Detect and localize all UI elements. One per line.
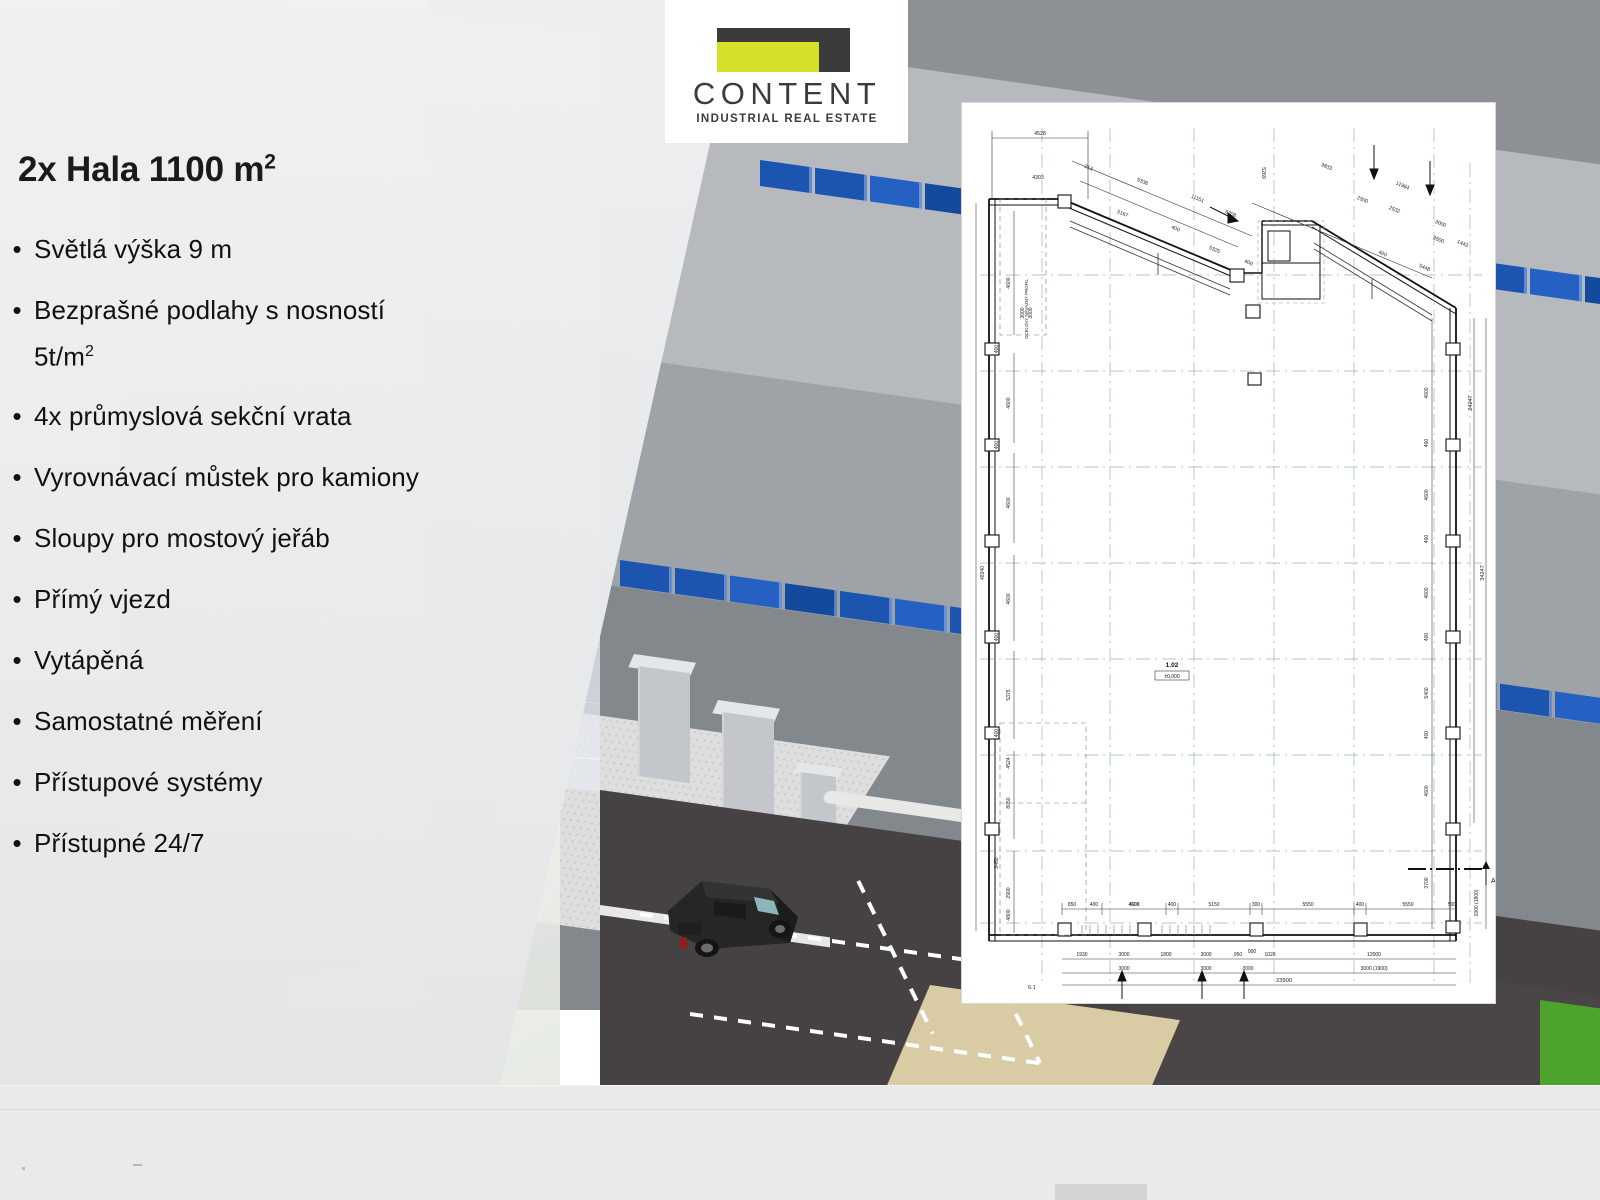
room-label: 1.02 xyxy=(1166,662,1179,669)
bullet-marker-icon: • xyxy=(0,293,34,327)
dimension-label: 400 xyxy=(994,729,1000,738)
room-level-label: ±0,000 xyxy=(1164,674,1179,680)
dimension-label: 5269 xyxy=(1260,167,1266,179)
floor-plan-svg: 4528 213 5336 11151 4303 5167 400 5325 4… xyxy=(962,103,1495,1003)
bullet-marker-icon: • xyxy=(0,399,34,433)
dimension-label: 500 xyxy=(1448,902,1457,908)
bullet-marker-icon: • xyxy=(0,232,34,266)
dimension-label: 5375 xyxy=(1006,689,1012,700)
dimension-label-inner-depth: 24247 xyxy=(1468,395,1474,411)
list-item-superscript: 2 xyxy=(85,343,94,360)
list-item-label: Vytápěná xyxy=(34,643,144,677)
list-item: • Samostatné měření xyxy=(0,704,540,738)
plan-note: OCELOVÝ NÁVAZNÝ PROFIL xyxy=(1024,279,1029,339)
dimension-label: 3000 xyxy=(1118,966,1129,972)
bottom-bar-tick xyxy=(133,1164,142,1166)
dimension-label: 4600 xyxy=(1006,277,1012,288)
dimension-label: 4303 xyxy=(1032,175,1044,181)
dimension-label: 5550 xyxy=(1402,902,1413,908)
dimension-label: 4600 xyxy=(1424,587,1430,598)
dimension-label: 4600 xyxy=(1128,902,1139,908)
dimension-label: 8050 xyxy=(1006,797,1012,808)
dimension-label: 1900 (1800) xyxy=(1474,889,1480,916)
dimension-label: 900 xyxy=(1248,949,1257,955)
list-item-label: Vyrovnávací můstek pro kamiony xyxy=(34,460,419,494)
logo-mark-accent xyxy=(717,42,819,72)
dimension-label: 3000 xyxy=(1118,952,1129,958)
logo-wordmark: CONTENT xyxy=(687,76,887,112)
dimension-label: 1800 xyxy=(1160,952,1171,958)
dimension-label: 3450 xyxy=(994,857,1000,868)
bottom-bar-tick xyxy=(22,1167,25,1170)
dimension-label: 4528 xyxy=(1034,131,1046,137)
bullet-marker-icon: • xyxy=(0,765,34,799)
dimension-label: 3700 xyxy=(1424,877,1430,888)
dimension-label: 1020 xyxy=(1264,952,1275,958)
dimension-label: 4600 xyxy=(1006,593,1012,604)
grass-area xyxy=(1540,1000,1600,1085)
list-item-label: Sloupy pro mostový jeřáb xyxy=(34,521,330,555)
feature-list: • Světlá výška 9 m • Bezprašné podlahy s… xyxy=(0,232,540,887)
bullet-marker-icon: • xyxy=(0,826,34,860)
dimension-label: 48340 xyxy=(980,566,986,580)
list-item-label: Přístupné 24/7 xyxy=(34,826,205,860)
dimension-label-overall-depth: 34247 xyxy=(1480,565,1486,581)
plan-misc-label: 6.1 xyxy=(1028,985,1036,991)
dimension-label: 4600 xyxy=(1424,785,1430,796)
list-item: • Bezprašné podlahy s nosností xyxy=(0,293,540,327)
dimension-label: 4600 xyxy=(1006,497,1012,508)
dimension-label: 400 xyxy=(1168,902,1177,908)
dimension-label: 400 xyxy=(1424,535,1430,544)
list-item-continuation: 5t/m2 xyxy=(0,335,540,374)
list-item-label: 5t/m2 xyxy=(34,335,94,374)
list-item: • 4x průmyslová sekční vrata xyxy=(0,399,540,433)
floor-plan-drawing[interactable]: 4528 213 5336 11151 4303 5167 400 5325 4… xyxy=(962,103,1495,1003)
list-item-label: Přístupové systémy xyxy=(34,765,263,799)
dimension-label: 400 xyxy=(994,633,1000,642)
list-item: • Světlá výška 9 m xyxy=(0,232,540,266)
list-item: • Sloupy pro mostový jeřáb xyxy=(0,521,540,555)
dimension-label: 400 xyxy=(1356,902,1365,908)
bottom-bar-thumbnail[interactable] xyxy=(1055,1184,1147,1200)
bullet-marker-icon: • xyxy=(0,643,34,677)
list-item-label: Světlá výška 9 m xyxy=(34,232,232,266)
dimension-label: 2900 xyxy=(1006,887,1012,898)
dimension-label: 5150 xyxy=(1208,902,1219,908)
list-item: • Přístupné 24/7 xyxy=(0,826,540,860)
dimension-label: 400 xyxy=(1090,902,1099,908)
dimension-label: 400 xyxy=(1424,731,1430,740)
bottom-bar-divider xyxy=(0,1109,1600,1110)
dimension-label: 5400 xyxy=(1424,687,1430,698)
dimension-label: 3000 (1900) xyxy=(1361,966,1388,972)
dimension-label: 5550 xyxy=(1302,902,1313,908)
van-icon xyxy=(650,845,815,965)
bottom-bar xyxy=(0,1085,1600,1200)
page-title-text: 2x Hala 1100 m xyxy=(18,150,264,189)
list-item: • Přímý vjezd xyxy=(0,582,540,616)
list-item: • Vyrovnávací můstek pro kamiony xyxy=(0,460,540,494)
bullet-marker-icon: • xyxy=(0,521,34,555)
dimension-label-overall-width: 23900 xyxy=(1276,978,1292,984)
dimension-label: 300 xyxy=(1252,902,1261,908)
list-item-label: Bezprašné podlahy s nosností xyxy=(34,293,385,327)
page-title-superscript: 2 xyxy=(264,150,275,173)
dimension-label: 4524 xyxy=(1006,757,1012,768)
page-title: 2x Hala 1100 m2 xyxy=(18,150,276,190)
dimension-label: 1930 xyxy=(1076,952,1087,958)
dimension-label: 12000 xyxy=(1367,952,1381,958)
logo-tagline: INDUSTRIAL REAL ESTATE xyxy=(687,113,887,125)
bullet-marker-icon: • xyxy=(0,460,34,494)
dimension-label: 950 xyxy=(1234,952,1243,958)
list-item-label: Přímý vjezd xyxy=(34,582,171,616)
dimension-label: 400 xyxy=(1424,633,1430,642)
slide-canvas: 2x Hala 1100 m2 • Světlá výška 9 m • Bez… xyxy=(0,0,1600,1200)
dimension-label: 850 xyxy=(1068,902,1077,908)
dimension-label: 4600 xyxy=(1006,397,1012,408)
bullet-marker-icon: • xyxy=(0,582,34,616)
section-marker-label: A xyxy=(1491,878,1495,885)
list-item-label: 4x průmyslová sekční vrata xyxy=(34,399,352,433)
list-item: • Přístupové systémy xyxy=(0,765,540,799)
dimension-label: 4600 xyxy=(1424,387,1430,398)
list-item-label-text: 5t/m xyxy=(34,342,85,372)
dimension-label: 400 xyxy=(1424,439,1430,448)
sectional-door xyxy=(638,666,690,783)
logo: CONTENT INDUSTRIAL REAL ESTATE xyxy=(665,0,908,143)
list-item-label: Samostatné měření xyxy=(34,704,263,738)
dimension-label: 4600 xyxy=(1424,489,1430,500)
dimension-label: 3000 xyxy=(1200,952,1211,958)
dimension-label: 4800 xyxy=(1006,909,1012,920)
bullet-marker-icon: • xyxy=(0,704,34,738)
dimension-label: 400 xyxy=(994,441,1000,450)
dimension-label: 400 xyxy=(994,345,1000,354)
list-item: • Vytápěná xyxy=(0,643,540,677)
logo-mark-leg xyxy=(820,28,850,72)
